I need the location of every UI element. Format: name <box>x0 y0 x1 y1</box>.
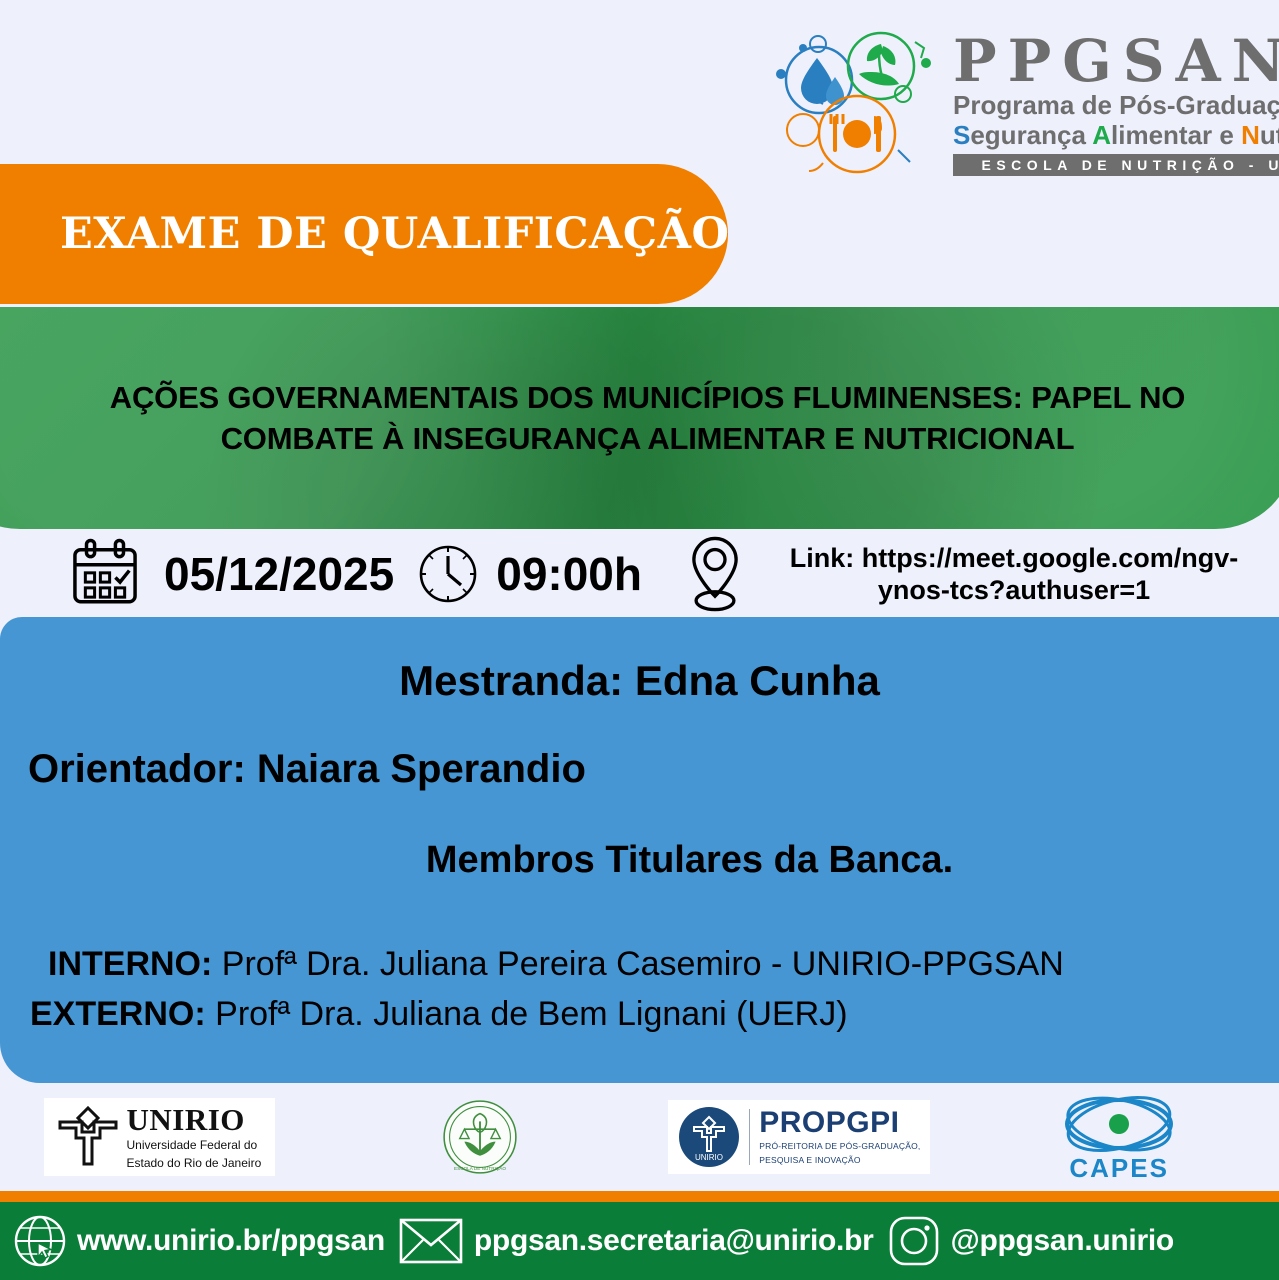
external-member-label: EXTERNO: <box>30 995 206 1033</box>
ppgsan-tagline-line1: Programa de Pós-Graduação em <box>953 91 1279 120</box>
partner-logo-unirio: UNIRIO Universidade Federal do Estado do… <box>0 1083 320 1191</box>
unirio-sub2: Estado do Rio de Janeiro <box>126 1156 261 1171</box>
internal-member-row: INTERNO: Profª Dra. Juliana Pereira Case… <box>48 945 1064 984</box>
propgpi-sub2: PESQUISA E INOVAÇÃO <box>759 1155 920 1166</box>
contact-website[interactable]: www.unirio.br/ppgsan <box>14 1215 385 1267</box>
thesis-title-band: AÇÕES GOVERNAMENTAIS DOS MUNICÍPIOS FLUM… <box>0 307 1279 529</box>
meeting-link[interactable]: Link: https://meet.google.com/ngv-ynos-t… <box>754 542 1274 607</box>
instagram-icon <box>888 1215 940 1267</box>
internal-member-label: INTERNO: <box>48 945 212 983</box>
poster-root: PPGSAN Programa de Pós-Graduação em Segu… <box>0 0 1279 1280</box>
partner-logo-capes: CAPES <box>959 1083 1279 1191</box>
capes-name: CAPES <box>1069 1153 1169 1184</box>
advisor-name: Orientador: Naiara Sperandio <box>28 747 586 792</box>
email-text: ppgsan.secretaria@unirio.br <box>474 1224 874 1258</box>
propgpi-badge-text: UNIRIO <box>695 1153 723 1162</box>
propgpi-sub1: PRÓ-REITORIA DE PÓS-GRADUAÇÃO, <box>759 1141 920 1152</box>
website-text: www.unirio.br/ppgsan <box>77 1224 385 1258</box>
capes-symbol-icon <box>1060 1091 1178 1157</box>
student-name: Mestranda: Edna Cunha <box>0 657 1279 705</box>
event-time: 09:00h <box>496 547 642 601</box>
contact-email[interactable]: ppgsan.secretaria@unirio.br <box>399 1216 874 1266</box>
external-member-row: EXTERNO: Profª Dra. Juliana de Bem Ligna… <box>30 995 848 1034</box>
contact-bar-body: www.unirio.br/ppgsan ppgsan.secretaria@u… <box>0 1202 1279 1280</box>
event-date: 05/12/2025 <box>164 547 394 601</box>
calendar-icon <box>68 537 142 611</box>
ppgsan-logo-text: PPGSAN Programa de Pós-Graduação em Segu… <box>953 34 1279 175</box>
unirio-name: UNIRIO <box>126 1104 261 1135</box>
contact-bar-accent <box>0 1191 1279 1202</box>
propgpi-unirio-badge-icon: UNIRIO <box>678 1106 740 1168</box>
exam-type-banner: EXAME DE QUALIFICAÇÃO <box>0 164 728 304</box>
globe-icon <box>14 1215 66 1267</box>
event-info-row: 05/12/2025 09:00h <box>0 529 1279 619</box>
ppgsan-logo-marks <box>775 30 943 180</box>
internal-member-value: Profª Dra. Juliana Pereira Casemiro - UN… <box>222 945 1064 983</box>
ppgsan-logo: PPGSAN Programa de Pós-Graduação em Segu… <box>775 30 1265 180</box>
contact-instagram[interactable]: @ppgsan.unirio <box>888 1215 1174 1267</box>
propgpi-name: PROPGPI <box>759 1108 920 1138</box>
external-member-value: Profª Dra. Juliana de Bem Lignani (UERJ) <box>215 995 847 1033</box>
nutrition-school-seal-icon: ESCOLA DE NUTRIÇÃO <box>441 1098 519 1176</box>
unirio-symbol-icon <box>58 1106 118 1168</box>
svg-text:ESCOLA DE NUTRIÇÃO: ESCOLA DE NUTRIÇÃO <box>454 1165 506 1171</box>
board-heading: Membros Titulares da Banca. <box>0 839 1279 882</box>
partner-logo-nutrition-school: ESCOLA DE NUTRIÇÃO <box>320 1083 640 1191</box>
ppgsan-school-strip: ESCOLA DE NUTRIÇÃO - UNIRIO <box>953 154 1279 176</box>
partner-logos: UNIRIO Universidade Federal do Estado do… <box>0 1083 1279 1191</box>
propgpi-divider <box>749 1109 750 1165</box>
partner-logo-propgpi: UNIRIO PROPGPI PRÓ-REITORIA DE PÓS-GRADU… <box>640 1083 960 1191</box>
location-pin-icon <box>682 534 748 614</box>
ppgsan-tagline-line2: Segurança Alimentar e Nutricional <box>953 121 1279 150</box>
contact-bar: www.unirio.br/ppgsan ppgsan.secretaria@u… <box>0 1191 1279 1280</box>
clock-icon <box>416 542 480 606</box>
details-panel: Mestranda: Edna Cunha Orientador: Naiara… <box>0 617 1279 1083</box>
instagram-text: @ppgsan.unirio <box>951 1224 1174 1258</box>
envelope-icon <box>399 1216 463 1266</box>
unirio-sub1: Universidade Federal do <box>126 1138 261 1153</box>
thesis-title: AÇÕES GOVERNAMENTAIS DOS MUNICÍPIOS FLUM… <box>55 377 1240 459</box>
exam-type-label: EXAME DE QUALIFICAÇÃO <box>60 209 729 259</box>
ppgsan-icon-cluster <box>775 30 943 180</box>
ppgsan-wordmark: PPGSAN <box>953 34 1279 89</box>
